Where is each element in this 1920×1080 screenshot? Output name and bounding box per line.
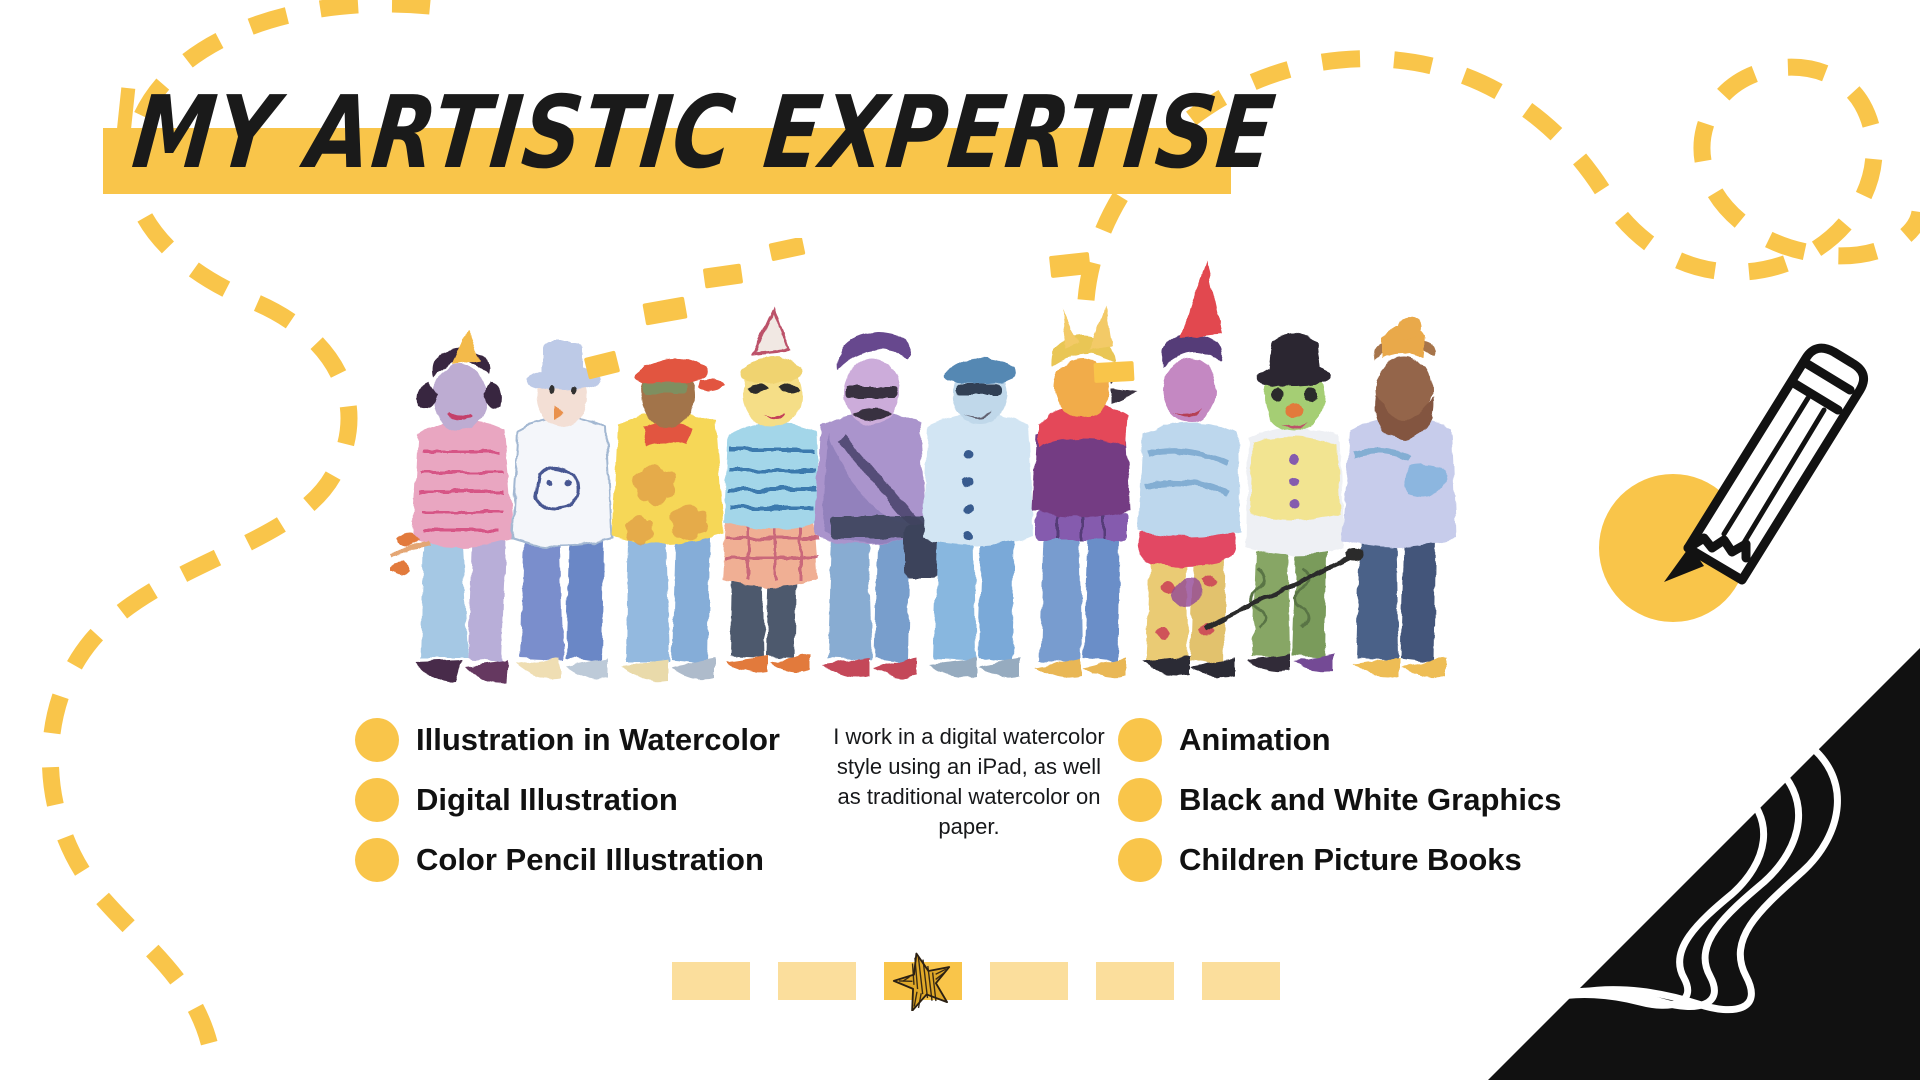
- title-accent-tick: [117, 87, 136, 132]
- pencil-badge: [1592, 298, 1920, 628]
- watercolor-group-illustration: [390, 238, 1470, 686]
- pagination-bar: [672, 962, 1280, 1000]
- pencil-icon: [1592, 298, 1920, 628]
- page-title: MY ARTISTIC EXPERTISE: [128, 84, 1239, 184]
- skills-list-left: Illustration in Watercolor Digital Illus…: [355, 710, 825, 890]
- bullet-dot-icon: [1118, 778, 1162, 822]
- pagination-item-5[interactable]: [1096, 962, 1174, 1000]
- pagination-item-1[interactable]: [672, 962, 750, 1000]
- bullet-dot-icon: [1118, 838, 1162, 882]
- skill-label: Illustration in Watercolor: [416, 724, 780, 757]
- scribbled-star-icon: [892, 949, 954, 1011]
- list-item[interactable]: Illustration in Watercolor: [355, 710, 825, 770]
- skill-label: Digital Illustration: [416, 784, 678, 817]
- skill-label: Animation: [1179, 724, 1331, 757]
- black-corner-wedge: [1450, 620, 1920, 1080]
- list-item[interactable]: Color Pencil Illustration: [355, 830, 825, 890]
- page-title-block: MY ARTISTIC EXPERTISE: [103, 128, 1231, 194]
- pagination-item-2[interactable]: [778, 962, 856, 1000]
- pagination-item-3-active[interactable]: [884, 962, 962, 1000]
- slide-canvas: MY ARTISTIC EXPERTISE: [0, 0, 1920, 1080]
- pagination-item-6[interactable]: [1202, 962, 1280, 1000]
- list-item[interactable]: Digital Illustration: [355, 770, 825, 830]
- pagination-item-4[interactable]: [990, 962, 1068, 1000]
- bullet-dot-icon: [355, 778, 399, 822]
- bullet-dot-icon: [1118, 718, 1162, 762]
- center-description-text: I work in a digital watercolor style usi…: [824, 722, 1114, 842]
- bullet-dot-icon: [355, 718, 399, 762]
- bullet-dot-icon: [355, 838, 399, 882]
- skill-label: Color Pencil Illustration: [416, 844, 764, 877]
